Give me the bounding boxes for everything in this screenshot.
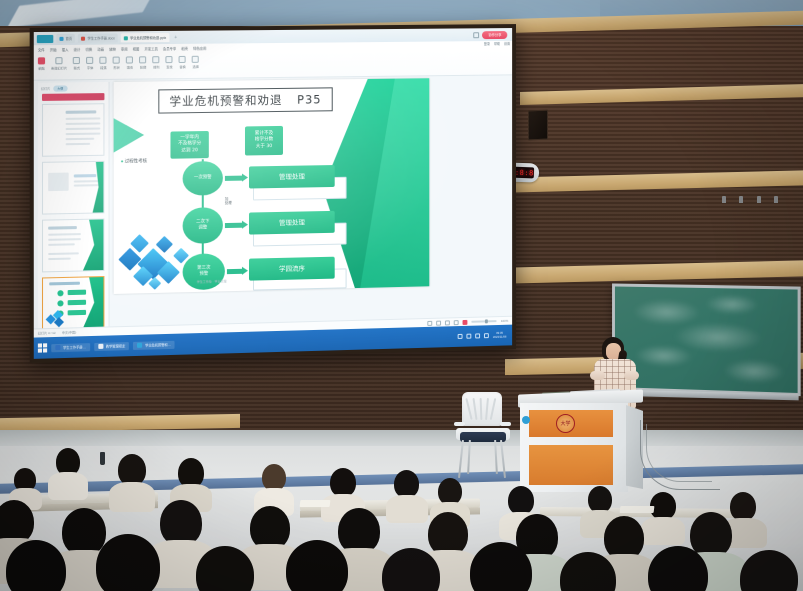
select-icon bbox=[192, 56, 199, 63]
thumb-line bbox=[66, 122, 101, 124]
ribbon-find-button[interactable]: 查找 bbox=[166, 56, 173, 69]
thumb-line bbox=[48, 238, 81, 240]
paper-sheet bbox=[620, 506, 655, 513]
slide-criteria-box: 一学年内 不及格学分 达到 20 bbox=[170, 131, 208, 159]
ribbon-label: 查找 bbox=[166, 64, 172, 69]
menu-item-animation[interactable]: 动画 bbox=[97, 47, 104, 52]
university-emblem: 大学 bbox=[556, 414, 575, 433]
outline-icon bbox=[140, 56, 147, 63]
ribbon-label: 字体 bbox=[87, 65, 93, 70]
lecture-hall-photo: 8:8:8 首页 学生工作手册.docx 学业 bbox=[0, 0, 803, 591]
ribbon-label: 版式 bbox=[74, 65, 80, 70]
chair-leg bbox=[458, 440, 464, 478]
thumb-line bbox=[74, 184, 99, 186]
taskbar-item-label: 教学管理规定 bbox=[106, 343, 125, 349]
visitor-chair bbox=[452, 392, 514, 478]
search-icon bbox=[166, 56, 173, 63]
coat-hook-icon bbox=[757, 196, 761, 203]
thumb-title-bar bbox=[66, 110, 97, 113]
slide-title: 学业危机预警和劝退 P35 bbox=[158, 87, 332, 113]
nav-pane-header: 幻灯片 大纲 bbox=[38, 82, 109, 93]
menu-item-review[interactable]: 审阅 bbox=[121, 46, 128, 51]
slide-thumbnail[interactable]: 3 bbox=[42, 218, 104, 272]
coat-hooks bbox=[722, 196, 778, 204]
thumb-title-bar bbox=[49, 282, 80, 285]
menu-item-special[interactable]: 特色应用 bbox=[193, 46, 206, 51]
ribbon-layout-button[interactable]: 版式 bbox=[73, 57, 80, 70]
slide-footer: 学生工作处 · 学业管理 bbox=[197, 279, 227, 284]
ribbon-label: 排列 bbox=[153, 64, 159, 69]
menu-item-home[interactable]: 开始 bbox=[50, 47, 57, 52]
app-icon bbox=[137, 343, 142, 348]
doc-tab-label: 首页 bbox=[66, 36, 73, 41]
podium-badge-icon bbox=[522, 416, 530, 424]
thumb-decor bbox=[83, 219, 103, 270]
flow-result-box: 管理处理 bbox=[249, 165, 335, 188]
ribbon-font-button[interactable]: 字体 bbox=[87, 57, 94, 70]
nav-banner bbox=[42, 93, 104, 101]
thumb-line bbox=[66, 138, 95, 140]
thumb-line bbox=[48, 233, 81, 235]
flow-result-box: 管理处理 bbox=[249, 211, 335, 235]
new-tab-button[interactable]: + bbox=[172, 34, 179, 40]
input-method-icon[interactable] bbox=[484, 333, 489, 338]
taskbar-item[interactable]: 学生工作手册… bbox=[51, 343, 90, 352]
doc-tab-label: 学业危机预警和劝退.pptx bbox=[130, 35, 166, 40]
status-language: 中文(中国) bbox=[62, 330, 76, 334]
doc-tab-label: 学生工作手册.docx bbox=[87, 35, 114, 40]
ribbon-fill-button[interactable]: 填充 bbox=[126, 56, 133, 69]
ribbon-arrange-button[interactable]: 排列 bbox=[153, 56, 160, 69]
thumb-line bbox=[74, 180, 99, 182]
menu-item-view[interactable]: 视图 bbox=[133, 46, 140, 51]
thumb-decor bbox=[93, 162, 104, 213]
slide-bullet: ● 过程性考核 bbox=[121, 158, 147, 164]
slide-title-text: 学业危机预警和劝退 bbox=[169, 93, 282, 108]
flow-arrow-icon bbox=[227, 269, 243, 274]
flow-result-box: 学园流序 bbox=[249, 257, 335, 281]
share-button[interactable]: 协作分享 bbox=[482, 31, 507, 39]
presenter-arm bbox=[624, 371, 639, 380]
reading-view-icon[interactable] bbox=[445, 320, 450, 325]
chair-arm bbox=[500, 422, 511, 426]
slide-decor-arrow bbox=[114, 118, 145, 153]
ribbon-label: 形状 bbox=[113, 65, 119, 70]
slide-criteria-box: 累计不及 格学分数 大于 30 bbox=[245, 126, 283, 156]
ribbon-outline-button[interactable]: 轮廓 bbox=[140, 56, 147, 69]
ribbon-paste-button[interactable]: 粘贴 bbox=[38, 57, 45, 70]
thumb-box bbox=[68, 300, 86, 306]
ribbon-toolbar: 粘贴 新建幻灯片 版式 字体 bbox=[34, 50, 512, 81]
thumb-node bbox=[57, 300, 63, 306]
arrange-icon bbox=[153, 56, 160, 63]
nav-header-label: 幻灯片 bbox=[41, 87, 50, 91]
ribbon-row-top: 粘贴 新建幻灯片 版式 字体 bbox=[38, 56, 199, 71]
wall-speaker-icon bbox=[528, 110, 548, 141]
coat-hook-icon bbox=[739, 196, 743, 203]
paragraph-icon bbox=[100, 57, 107, 64]
sorter-view-icon[interactable] bbox=[436, 320, 441, 325]
nav-outline-tab[interactable]: 大纲 bbox=[53, 85, 67, 91]
normal-view-icon[interactable] bbox=[428, 320, 433, 325]
tabbar-right-group: 协作分享 bbox=[474, 31, 510, 39]
thumb-image bbox=[48, 173, 69, 192]
slide-nav-pane[interactable]: 幻灯片 大纲 1 2 bbox=[38, 82, 110, 345]
slide-thumbnail[interactable]: 2 bbox=[42, 161, 104, 215]
chair-arm bbox=[454, 422, 465, 426]
podium: 大学 bbox=[518, 392, 643, 492]
help-link[interactable]: 帮助 bbox=[494, 41, 500, 46]
taskbar-item[interactable]: 学业危机预警和… bbox=[133, 340, 175, 349]
slide-thumbnail-selected[interactable]: 4 bbox=[42, 276, 104, 330]
menu-item-file[interactable]: 文件 bbox=[38, 47, 45, 52]
ribbon-label: 替换 bbox=[179, 64, 185, 69]
coat-hook-icon bbox=[774, 196, 778, 203]
taskbar-item[interactable]: 教学管理规定 bbox=[94, 342, 129, 351]
menu-item-insert[interactable]: 插入 bbox=[62, 47, 69, 52]
thumb-title-bar bbox=[48, 226, 77, 229]
slideshow-icon[interactable] bbox=[463, 319, 468, 324]
slide-bullet-text: 过程性考核 bbox=[125, 158, 147, 163]
ribbon-label: 轮廓 bbox=[140, 64, 146, 69]
font-icon bbox=[87, 57, 94, 64]
tab-icon bbox=[124, 36, 128, 40]
thumb-box bbox=[68, 310, 86, 316]
screen-surface: 首页 学生工作手册.docx 学业危机预警和劝退.pptx + 协作分享 bbox=[34, 28, 512, 359]
taskbar-item-label: 学生工作手册… bbox=[63, 344, 86, 350]
thumb-line bbox=[66, 117, 101, 119]
login-link[interactable]: 登录 bbox=[484, 41, 490, 46]
menu-item-member[interactable]: 会员专享 bbox=[163, 46, 176, 51]
app-icon bbox=[55, 345, 60, 350]
ribbon-label: 段落 bbox=[100, 65, 106, 70]
projection-screen: 首页 学生工作手册.docx 学业危机预警和劝退.pptx + 协作分享 bbox=[30, 24, 516, 363]
ribbon-newslide-button[interactable]: 新建幻灯片 bbox=[51, 57, 67, 70]
podium-panel-lower bbox=[529, 445, 613, 485]
ribbon-replace-button[interactable]: 替换 bbox=[179, 56, 186, 69]
menu-item-ricehusk[interactable]: 稻壳 bbox=[181, 46, 188, 51]
ribbon-label: 新建幻灯片 bbox=[51, 65, 67, 70]
replace-icon bbox=[179, 56, 186, 63]
notes-icon[interactable] bbox=[454, 320, 459, 325]
doc-tab-active[interactable]: 学业危机预警和劝退.pptx bbox=[121, 33, 169, 42]
thumb-line bbox=[66, 133, 101, 135]
thumb-line bbox=[48, 243, 75, 245]
layout-icon bbox=[73, 57, 80, 64]
flow-node: 一次预警 bbox=[183, 161, 223, 196]
ribbon-label: 粘贴 bbox=[38, 65, 44, 70]
slide-diamond-decor bbox=[120, 226, 201, 290]
app-icon bbox=[98, 344, 103, 349]
paper-sheet bbox=[300, 500, 331, 507]
ribbon-label: 选择 bbox=[193, 64, 199, 69]
network-icon[interactable] bbox=[467, 334, 472, 339]
flow-side-note: 加 处理 bbox=[225, 197, 232, 206]
slide-thumbnail[interactable]: 1 bbox=[42, 103, 104, 157]
flow-arrow-icon bbox=[225, 176, 243, 181]
water-bottle bbox=[100, 452, 105, 465]
chair-leg bbox=[494, 440, 498, 474]
tab-icon bbox=[81, 36, 85, 40]
taskbar-clock[interactable]: 09:05 2023/11/08 bbox=[493, 332, 506, 338]
thumb-line bbox=[48, 252, 79, 254]
new-slide-icon bbox=[56, 57, 63, 64]
wps-app-icon bbox=[37, 34, 53, 42]
ribbon-select-button[interactable]: 选择 bbox=[192, 56, 199, 69]
thumb-title-bar bbox=[74, 174, 96, 177]
ribbon-label: 填充 bbox=[127, 64, 133, 69]
zoom-slider-knob[interactable] bbox=[485, 319, 488, 324]
settings-link[interactable]: 设置 bbox=[504, 41, 510, 46]
status-slide-count: 幻灯片 4 / 12 bbox=[38, 331, 56, 336]
thumb-box bbox=[68, 290, 86, 296]
doc-tab[interactable]: 首页 bbox=[56, 34, 75, 43]
paste-icon bbox=[38, 57, 45, 64]
chevron-up-icon[interactable] bbox=[458, 334, 463, 339]
shape-icon bbox=[113, 57, 120, 64]
fill-icon bbox=[126, 56, 133, 63]
taskbar-item-label: 学业危机预警和… bbox=[145, 342, 171, 348]
chair-leg bbox=[467, 440, 471, 474]
slide-page-marker: P35 bbox=[297, 92, 321, 106]
start-button-icon[interactable] bbox=[38, 343, 47, 352]
thumb-line bbox=[66, 143, 91, 145]
doc-tab[interactable]: 学生工作手册.docx bbox=[78, 33, 118, 42]
menu-item-design[interactable]: 设计 bbox=[74, 47, 81, 52]
thumb-line bbox=[66, 128, 101, 130]
coat-hook-icon bbox=[722, 196, 726, 203]
thumb-diamonds bbox=[47, 309, 68, 326]
chair-backrest bbox=[462, 392, 502, 426]
menu-item-slideshow[interactable]: 放映 bbox=[109, 46, 116, 51]
chair-leg bbox=[500, 440, 506, 478]
clock-date: 2023/11/08 bbox=[493, 335, 506, 338]
menu-item-devtools[interactable]: 开发工具 bbox=[144, 46, 157, 51]
menu-item-transition[interactable]: 切换 bbox=[85, 47, 92, 52]
tab-icon bbox=[59, 36, 63, 40]
thumb-line bbox=[48, 258, 71, 260]
ribbon-shape-button[interactable]: 形状 bbox=[113, 57, 120, 70]
account-bar: 登录 帮助 设置 bbox=[484, 41, 510, 46]
zoom-slider[interactable] bbox=[472, 320, 497, 322]
volume-icon[interactable] bbox=[475, 333, 480, 338]
system-tray: 09:05 2023/11/08 bbox=[458, 332, 508, 339]
slide-canvas[interactable]: 学业危机预警和劝退 P35 ● 过程性考核 一学年内 不及格学分 达到 20 累… bbox=[114, 78, 430, 294]
thumb-node bbox=[57, 290, 63, 296]
grid-icon[interactable] bbox=[474, 32, 480, 38]
zoom-level-label: 100% bbox=[501, 319, 508, 323]
flow-arrow-icon bbox=[225, 223, 243, 228]
ribbon-paragraph-button[interactable]: 段落 bbox=[100, 57, 107, 70]
presenter-arm bbox=[590, 371, 605, 380]
